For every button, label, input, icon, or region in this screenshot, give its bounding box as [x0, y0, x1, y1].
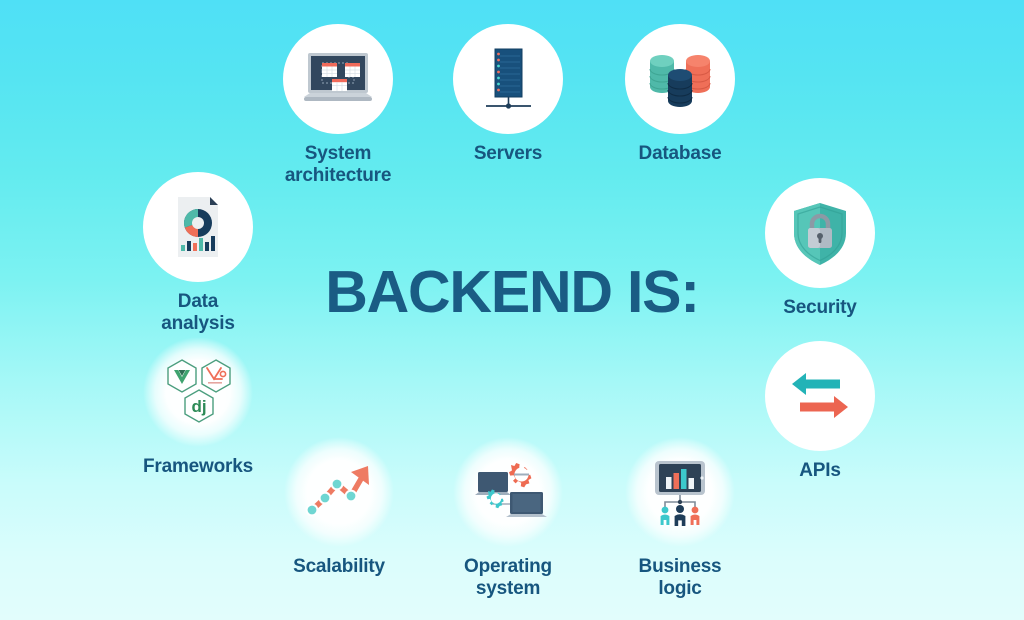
icon-disc — [765, 178, 875, 288]
icon-disc — [765, 341, 875, 451]
report-chart-icon — [162, 191, 234, 263]
screen-people-icon — [640, 452, 720, 532]
node-data-analysis[interactable]: Data analysis — [143, 172, 253, 336]
node-label: Operating system — [464, 556, 552, 601]
node-system-architecture[interactable]: System architecture — [283, 24, 393, 188]
node-label: Data analysis — [143, 291, 253, 336]
node-label: Business logic — [625, 556, 735, 601]
node-label: Database — [639, 143, 722, 165]
node-operating-system[interactable]: Operating system — [453, 437, 563, 601]
node-business-logic[interactable]: Business logic — [625, 437, 735, 601]
node-security[interactable]: Security — [765, 178, 875, 319]
icon-disc — [625, 24, 735, 134]
node-frameworks[interactable]: dj Frameworks — [143, 337, 253, 478]
icon-disc — [143, 172, 253, 282]
node-apis[interactable]: APIs — [765, 341, 875, 482]
icon-disc — [453, 437, 563, 547]
icon-disc — [284, 437, 394, 547]
growth-arrow-icon — [299, 452, 379, 532]
laptops-gears-icon — [468, 452, 548, 532]
node-label: Servers — [474, 143, 542, 165]
framework-hexagons-icon: dj — [158, 352, 238, 432]
shield-lock-icon — [784, 197, 856, 269]
node-database[interactable]: Database — [625, 24, 735, 165]
database-cylinders-icon — [640, 39, 720, 119]
node-label: APIs — [799, 460, 840, 482]
infographic-canvas: BACKEND IS: — [0, 0, 1024, 620]
node-label: System architecture — [285, 143, 391, 188]
icon-disc — [283, 24, 393, 134]
node-scalability[interactable]: Scalability — [284, 437, 394, 578]
node-label: Security — [783, 297, 856, 319]
svg-text:dj: dj — [191, 397, 206, 416]
icon-disc: dj — [143, 337, 253, 447]
two-arrows-icon — [784, 360, 856, 432]
server-rack-icon — [472, 43, 544, 115]
icon-disc — [453, 24, 563, 134]
node-label: Frameworks — [143, 456, 253, 478]
icon-disc — [625, 437, 735, 547]
node-servers[interactable]: Servers — [453, 24, 563, 165]
node-label: Scalability — [293, 556, 385, 578]
laptop-architecture-icon — [298, 39, 378, 119]
